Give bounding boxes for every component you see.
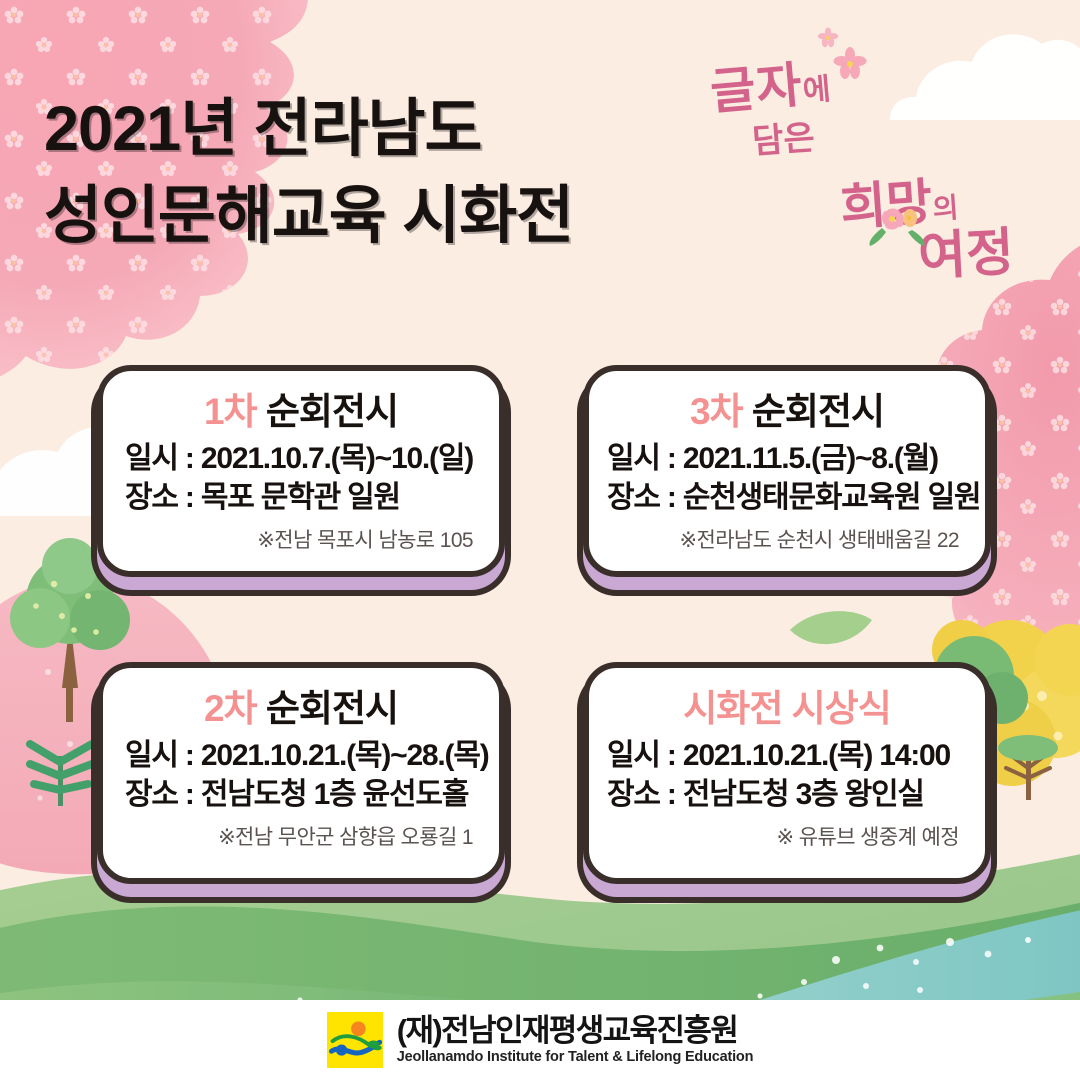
card-3-title-rest: 순회전시 (257, 688, 398, 729)
card-2-place: 장소 : 순천생태문화교육원 일원 (605, 478, 969, 518)
card-2-title-rest: 순회전시 (743, 391, 884, 432)
footer-org-ko: (재)전남인재평생교육진흥원 (397, 1014, 753, 1049)
footer-org-en: Jeollanamdo Institute for Talent & Lifel… (397, 1049, 753, 1066)
cherry-blossom-icon (834, 47, 867, 79)
card-1-place: 장소 : 목포 문학관 일원 (119, 478, 483, 518)
title-line-2: 성인문해교육 시화전 (44, 173, 573, 260)
poster-root: 2021년 전라남도 성인문해교육 시화전 글자에 담은 희망의 여정 (0, 0, 1080, 1080)
card-1-date: 일시 : 2021.10.7.(목)~10.(일) (119, 439, 483, 479)
card-4-note: ※ 유튜브 생중계 예정 (777, 821, 969, 851)
event-card-2[interactable]: 3차 순회전시 일시 : 2021.11.5.(금)~8.(월) 장소 : 순천… (583, 365, 991, 577)
event-card-4[interactable]: 시화전 시상식 일시 : 2021.10.21.(목) 14:00 장소 : 전… (583, 662, 991, 884)
tagline-word-4: 여정 (916, 210, 1015, 290)
card-3-place: 장소 : 전남도청 1층 윤선도홀 (119, 775, 483, 815)
card-3-title-accent: 2차 (204, 688, 257, 729)
card-3-date: 일시 : 2021.10.21.(목)~28.(목) (119, 736, 483, 776)
card-4-date: 일시 : 2021.10.21.(목) 14:00 (605, 736, 969, 776)
title-line-1: 2021년 전라남도 (44, 86, 573, 173)
page-title: 2021년 전라남도 성인문해교육 시화전 (44, 86, 573, 260)
card-2-title: 3차 순회전시 (690, 391, 884, 434)
card-1-title-rest: 순회전시 (257, 391, 398, 432)
event-card-1[interactable]: 1차 순회전시 일시 : 2021.10.7.(목)~10.(일) 장소 : 목… (97, 365, 505, 577)
card-4-title: 시화전 시상식 (683, 688, 891, 731)
tagline-group: 글자에 담은 희망의 여정 (690, 26, 1070, 276)
card-4-title-accent: 시화전 시상식 (683, 688, 891, 729)
card-2-date: 일시 : 2021.11.5.(금)~8.(월) (605, 439, 969, 479)
event-card-3[interactable]: 2차 순회전시 일시 : 2021.10.21.(목)~28.(목) 장소 : … (97, 662, 505, 884)
tagline-word-2: 담은 (750, 110, 816, 163)
poster-footer: (재)전남인재평생교육진흥원 Jeollanamdo Institute for… (0, 1000, 1080, 1080)
card-2-note: ※전라남도 순천시 생태배움길 22 (680, 524, 970, 554)
card-1-title: 1차 순회전시 (204, 391, 398, 434)
card-3-title: 2차 순회전시 (204, 688, 398, 731)
card-2-title-accent: 3차 (690, 391, 743, 432)
jeollanamdo-sun-wave-logo-icon (327, 1012, 383, 1068)
card-4-place: 장소 : 전남도청 3층 왕인실 (605, 775, 969, 815)
card-1-title-accent: 1차 (204, 391, 257, 432)
footer-org-text: (재)전남인재평생교육진흥원 Jeollanamdo Institute for… (397, 1014, 753, 1066)
card-1-note: ※전남 목포시 남농로 105 (257, 524, 483, 554)
tagline-word-1-particle: 에 (802, 73, 833, 108)
card-3-note: ※전남 무안군 삼향읍 오룡길 1 (218, 821, 483, 851)
